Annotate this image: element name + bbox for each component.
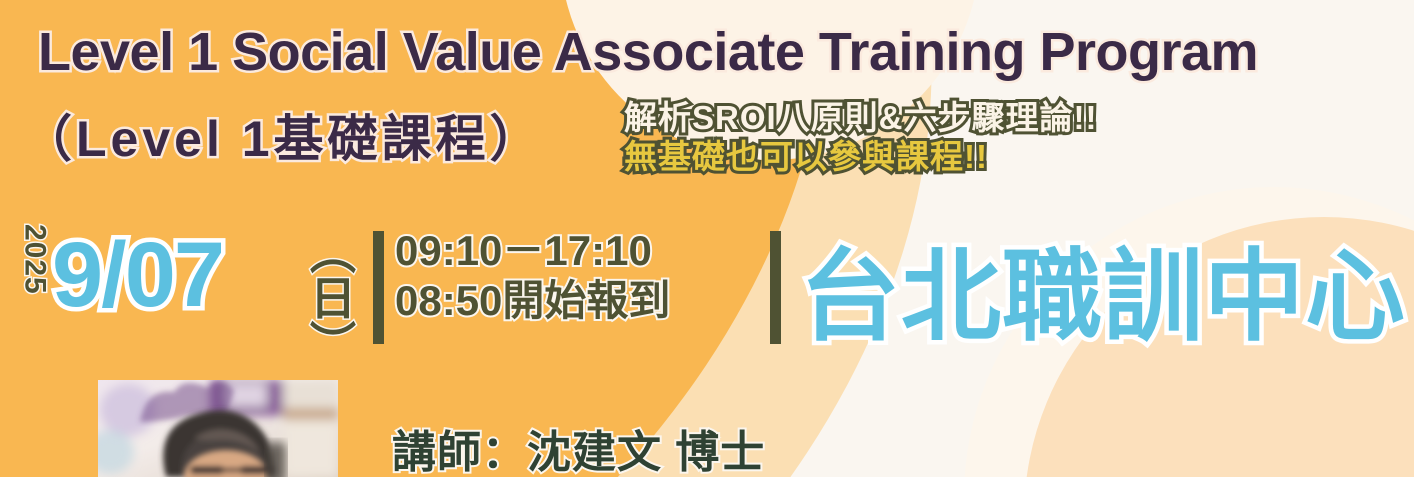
event-venue: 台北職訓中心: [800, 215, 1406, 360]
event-year: 2025: [20, 224, 49, 295]
divider-bar-left: [373, 231, 384, 344]
poster-title-english: Level 1 Social Value Associate Training …: [38, 21, 1258, 83]
event-weekday: （日）: [298, 228, 360, 348]
tagline-line-2: 無基礎也可以參與課程!!: [624, 139, 1098, 175]
poster-title-chinese: （Level 1基礎課程）: [22, 99, 544, 171]
event-time-block: 09:10－17:10 08:50開始報到: [395, 228, 670, 324]
tagline-line-1: 解析SROI八原則&六步驟理論!!: [624, 100, 1098, 136]
instructor-photo: [98, 380, 338, 477]
event-date: 9/07: [52, 223, 223, 328]
instructor-photo-image: [98, 380, 338, 477]
event-poster: Level 1 Social Value Associate Training …: [0, 0, 1414, 477]
event-time-checkin: 08:50開始報到: [395, 278, 670, 323]
divider-bar-right: [770, 231, 781, 344]
instructor-name: 講師：沈建文 博士: [392, 416, 765, 477]
event-time-main: 09:10－17:10: [395, 228, 670, 273]
poster-tagline: 解析SROI八原則&六步驟理論!! 無基礎也可以參與課程!!: [624, 100, 1098, 174]
poster-content: Level 1 Social Value Associate Training …: [0, 0, 1414, 477]
